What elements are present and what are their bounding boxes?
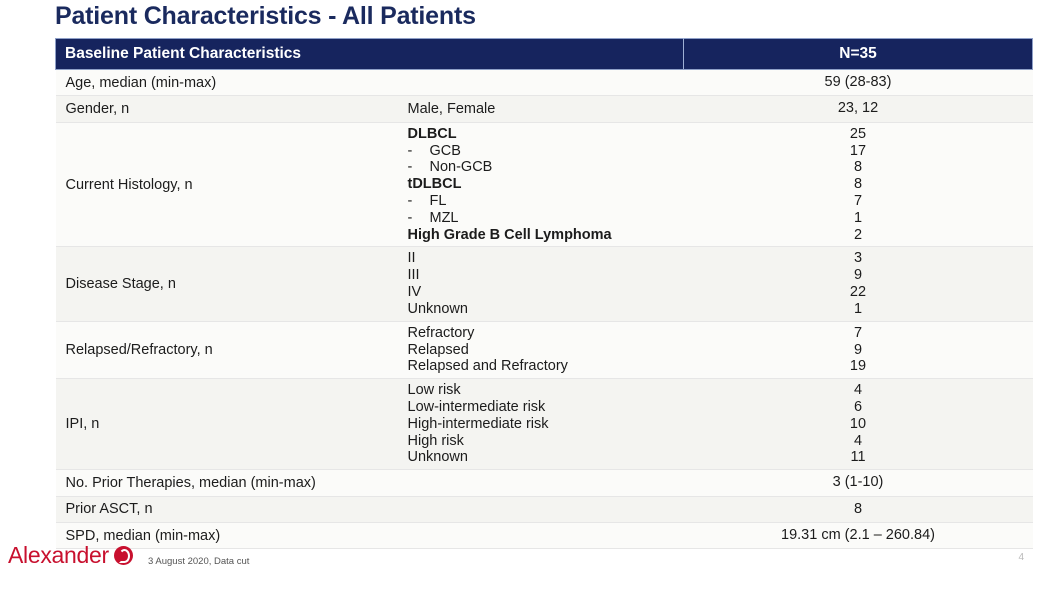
value-item: 9 [854, 267, 862, 284]
row-label: Disease Stage, n [56, 247, 406, 321]
category-item: Unknown [408, 301, 684, 318]
value-item: 3 [854, 250, 862, 267]
value-item: 7 [854, 325, 862, 342]
category-item: IV [408, 284, 684, 301]
category-item: -FL [408, 193, 684, 210]
category-item: -Non-GCB [408, 159, 684, 176]
value-item: 9 [854, 342, 862, 359]
value-item: 8 [854, 176, 862, 193]
patient-characteristics-table: Baseline Patient Characteristics N=35 Ag… [55, 38, 1033, 549]
row-values: 19.31 cm (2.1 – 260.84) [684, 523, 1033, 549]
brand-logo: Alexander [8, 542, 133, 569]
value-item: 19.31 cm (2.1 – 260.84) [781, 527, 935, 544]
category-label: Non-GCB [430, 159, 493, 176]
table-row: No. Prior Therapies, median (min-max)3 (… [56, 470, 1033, 496]
row-values: 7919 [684, 321, 1033, 378]
category-item: Refractory [408, 325, 684, 342]
row-values: 23, 12 [684, 96, 1033, 122]
value-item: 8 [854, 159, 862, 176]
category-item: II [408, 250, 684, 267]
table-row: Age, median (min-max)59 (28-83) [56, 70, 1033, 96]
row-categories: IIIIIIVUnknown [406, 247, 684, 321]
value-item: 22 [850, 284, 866, 301]
row-label: No. Prior Therapies, median (min-max) [56, 470, 406, 496]
page-number: 4 [1018, 552, 1024, 563]
category-item: -MZL [408, 210, 684, 227]
table-row: Relapsed/Refractory, nRefractoryRelapsed… [56, 321, 1033, 378]
value-item: 11 [850, 449, 865, 466]
row-values: 59 (28-83) [684, 70, 1033, 96]
table-row: IPI, nLow riskLow-intermediate riskHigh-… [56, 379, 1033, 470]
row-values: 251788712 [684, 122, 1033, 247]
value-item: 3 (1-10) [833, 474, 884, 491]
table-row: Disease Stage, nIIIIIIVUnknown39221 [56, 247, 1033, 321]
row-label: Current Histology, n [56, 122, 406, 247]
row-categories [406, 496, 684, 522]
value-item: 17 [850, 143, 866, 160]
row-categories [406, 70, 684, 96]
table-header-row: Baseline Patient Characteristics N=35 [56, 39, 1033, 70]
bullet-dash-icon: - [408, 143, 430, 160]
value-item: 2 [854, 227, 862, 244]
category-item: tDLBCL [408, 176, 684, 193]
bullet-dash-icon: - [408, 210, 430, 227]
table-row: Prior ASCT, n8 [56, 496, 1033, 522]
value-item: 23, 12 [838, 100, 878, 117]
row-categories: RefractoryRelapsedRelapsed and Refractor… [406, 321, 684, 378]
table-body: Age, median (min-max)59 (28-83)Gender, n… [56, 70, 1033, 549]
category-item: High Grade B Cell Lymphoma [408, 227, 684, 244]
value-item: 8 [854, 501, 862, 518]
category-item: High risk [408, 433, 684, 450]
category-item: III [408, 267, 684, 284]
page-title: Patient Characteristics - All Patients [55, 2, 476, 31]
row-categories: Low riskLow-intermediate riskHigh-interm… [406, 379, 684, 470]
row-values: 4610411 [684, 379, 1033, 470]
row-label: IPI, n [56, 379, 406, 470]
category-item: Relapsed and Refractory [408, 358, 684, 375]
row-label: Gender, n [56, 96, 406, 122]
table-row: SPD, median (min-max)19.31 cm (2.1 – 260… [56, 523, 1033, 549]
row-values: 8 [684, 496, 1033, 522]
category-item: -GCB [408, 143, 684, 160]
header-n-total: N=35 [684, 39, 1033, 70]
table-row: Gender, nMale, Female23, 12 [56, 96, 1033, 122]
category-label: MZL [430, 210, 459, 227]
category-item: High-intermediate risk [408, 416, 684, 433]
category-item: Low risk [408, 382, 684, 399]
row-categories [406, 523, 684, 549]
value-item: 4 [854, 433, 862, 450]
value-item: 7 [854, 193, 862, 210]
row-values: 3 (1-10) [684, 470, 1033, 496]
value-item: 6 [854, 399, 862, 416]
row-categories: Male, Female [406, 96, 684, 122]
value-item: 19 [850, 358, 866, 375]
brand-swirl-icon [114, 546, 133, 565]
bullet-dash-icon: - [408, 193, 430, 210]
category-item: Relapsed [408, 342, 684, 359]
row-label: Relapsed/Refractory, n [56, 321, 406, 378]
value-item: 25 [850, 126, 866, 143]
value-item: 59 (28-83) [825, 74, 892, 91]
value-item: 4 [854, 382, 862, 399]
category-item: Low-intermediate risk [408, 399, 684, 416]
header-baseline-characteristics: Baseline Patient Characteristics [56, 39, 684, 70]
brand-name: Alexander [8, 542, 109, 569]
row-label: Prior ASCT, n [56, 496, 406, 522]
category-label: GCB [430, 143, 461, 160]
value-item: 1 [854, 210, 862, 227]
category-label: FL [430, 193, 447, 210]
table-row: Current Histology, nDLBCL-GCB-Non-GCBtDL… [56, 122, 1033, 247]
row-categories [406, 470, 684, 496]
row-label: Age, median (min-max) [56, 70, 406, 96]
bullet-dash-icon: - [408, 159, 430, 176]
category-item: Male, Female [408, 101, 684, 118]
row-categories: DLBCL-GCB-Non-GCBtDLBCL-FL-MZLHigh Grade… [406, 122, 684, 247]
category-item: Unknown [408, 449, 684, 466]
category-item: DLBCL [408, 126, 684, 143]
value-item: 1 [854, 301, 862, 318]
data-cut-note: 3 August 2020, Data cut [148, 556, 249, 567]
row-values: 39221 [684, 247, 1033, 321]
value-item: 10 [850, 416, 866, 433]
